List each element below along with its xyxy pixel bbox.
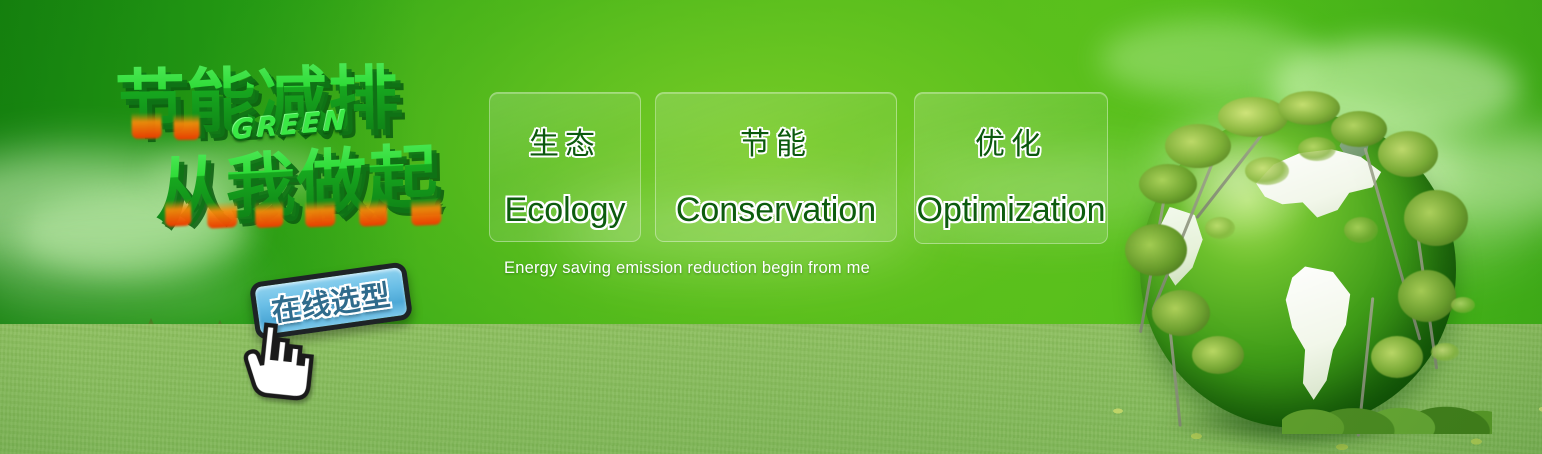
eco-hero-banner: 节能减排 节能减排 节能减排 从我做起 从我做起 从我做起 GREEN 在线选型…: [0, 0, 1542, 454]
vignette-overlay: [0, 0, 1542, 454]
